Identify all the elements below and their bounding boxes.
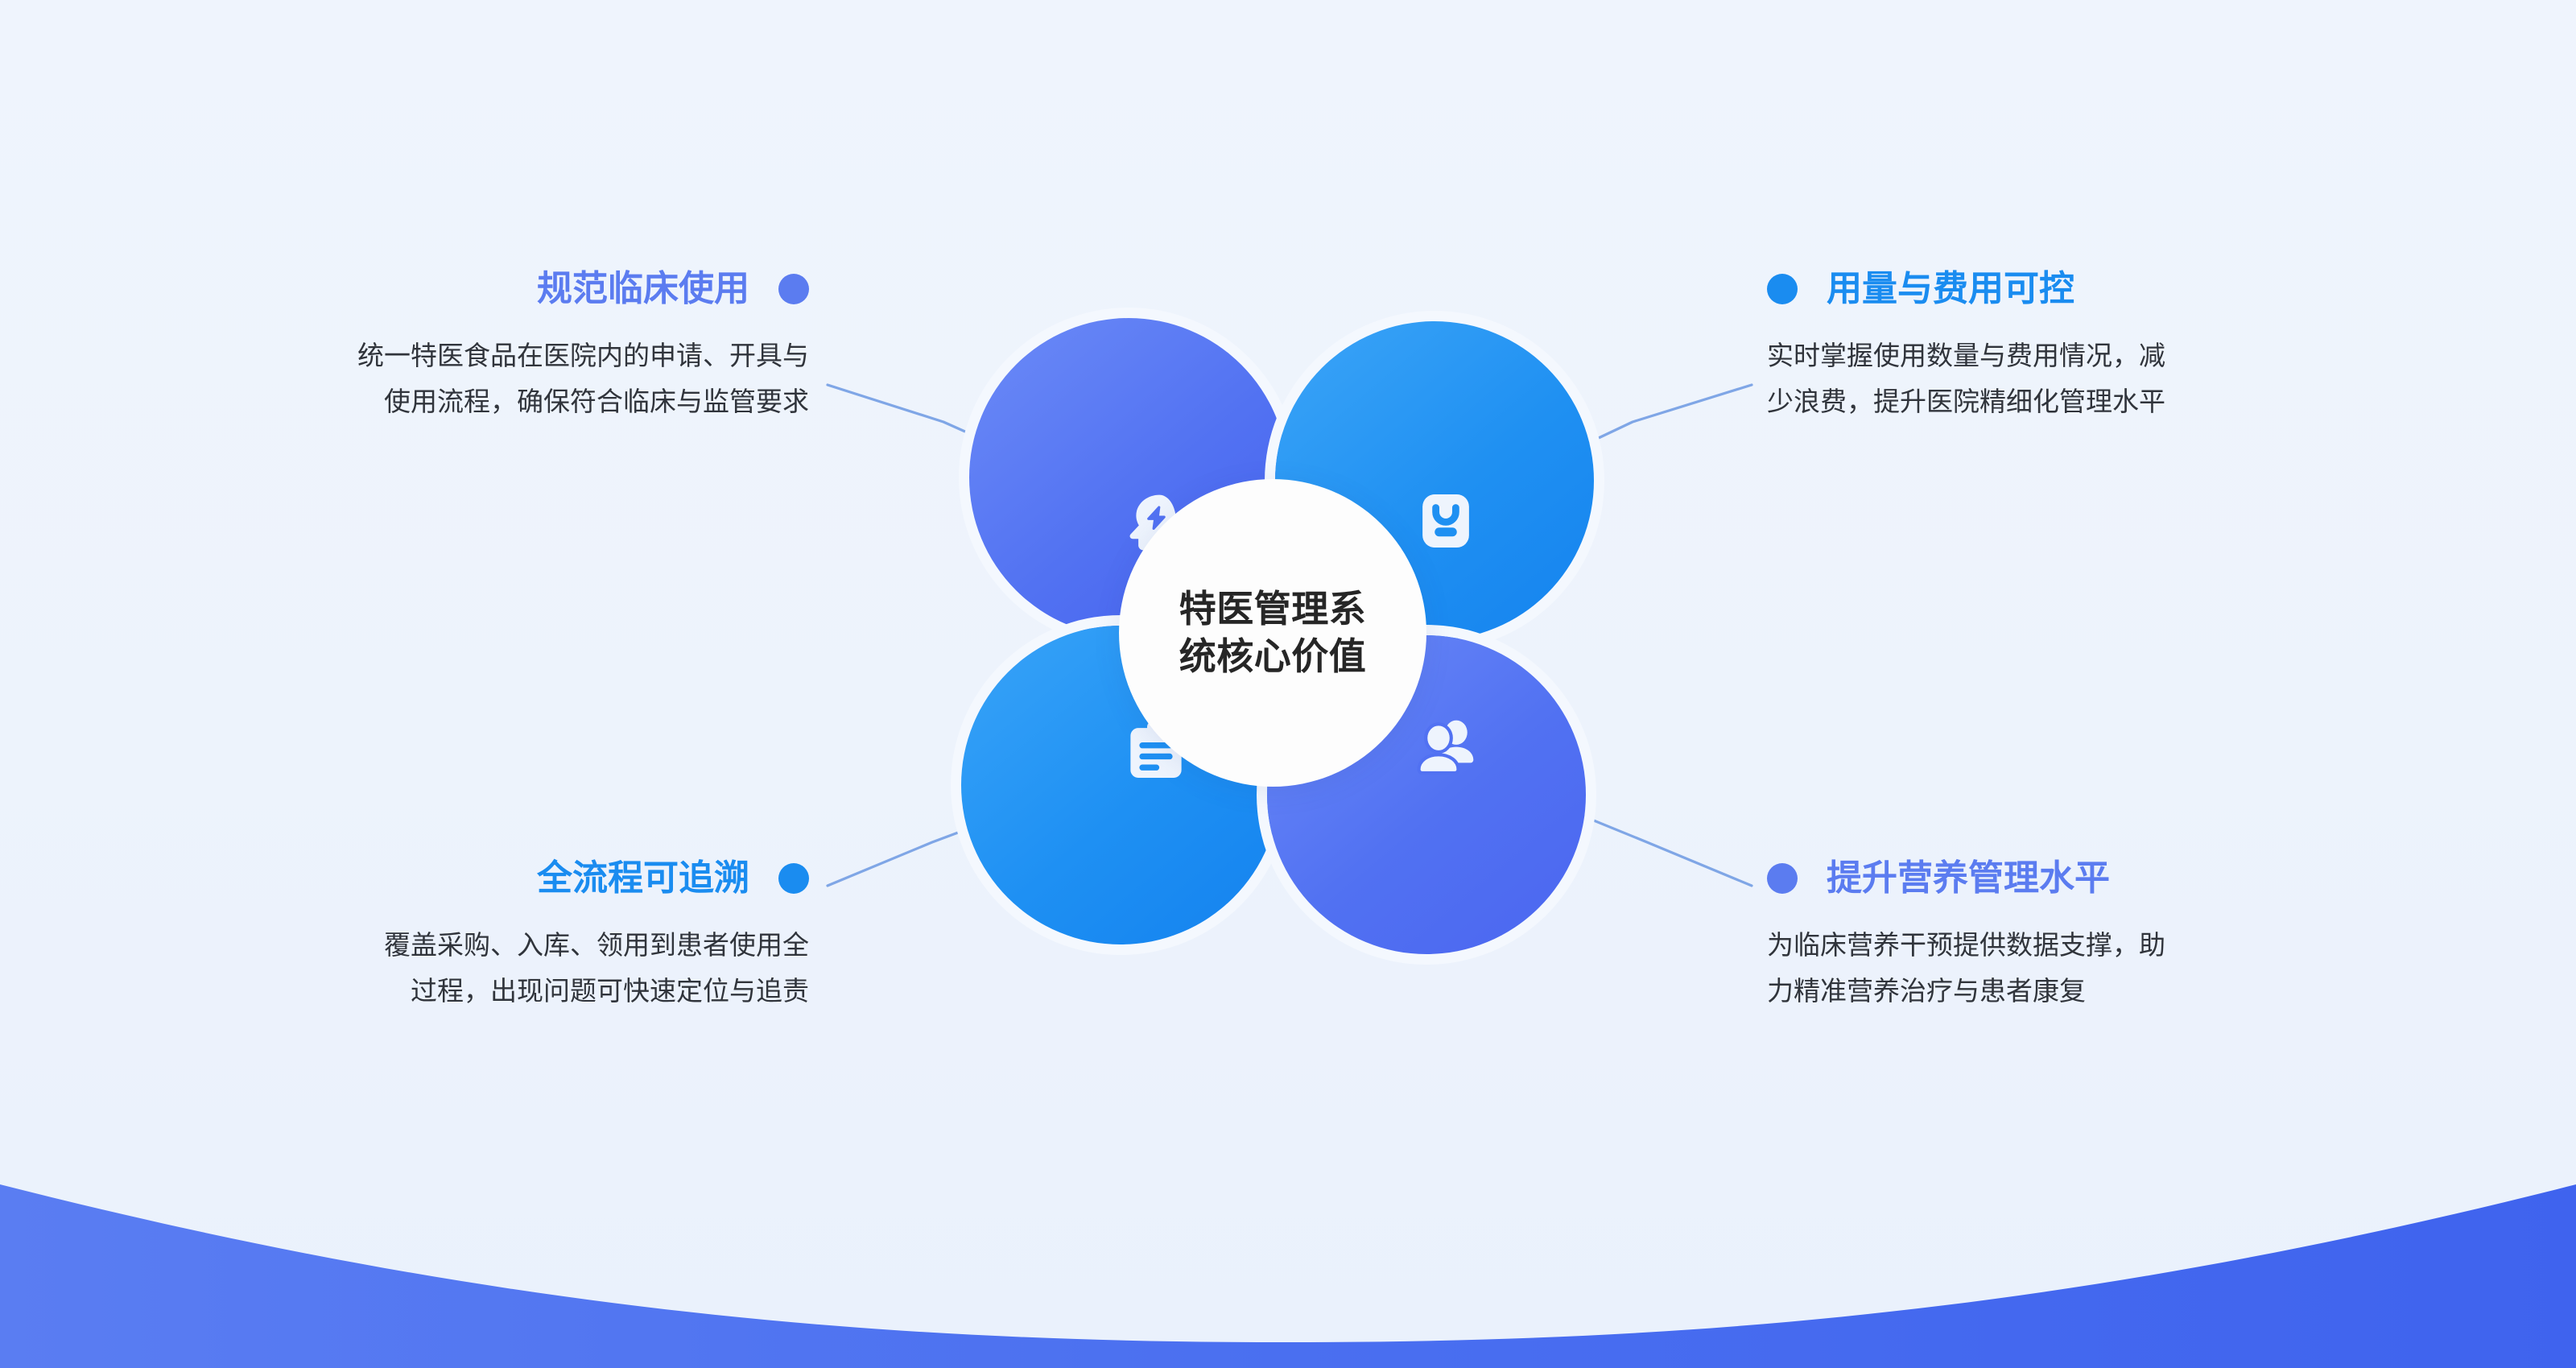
panel-usage-and-cost-control: 用量与费用可控 实时掌握使用数量与费用情况，减 少浪费，提升医院精细化管理水平 bbox=[1767, 266, 2443, 425]
panel-title: 提升营养管理水平 bbox=[1827, 861, 2110, 896]
panel-standardize-clinical-use: 规范临床使用 统一特医食品在医院内的申请、开具与 使用流程，确保符合临床与监管要… bbox=[133, 266, 809, 425]
panel-bullet-dot bbox=[778, 863, 809, 894]
panel-improve-nutrition-management: 提升营养管理水平 为临床营养干预提供数据支撑，助 力精准营养治疗与患者康复 bbox=[1767, 855, 2443, 1015]
panel-full-process-traceability: 全流程可追溯 覆盖采购、入库、领用到患者使用全 过程，出现问题可快速定位与追责 bbox=[133, 855, 809, 1015]
panel-bullet-dot bbox=[1767, 863, 1798, 894]
panel-description: 为临床营养干预提供数据支撑，助 力精准营养治疗与患者康复 bbox=[1767, 923, 2443, 1015]
shopping-bag-icon bbox=[1410, 486, 1481, 556]
value-cluster: 特医管理系 统核心价值 bbox=[934, 318, 1642, 962]
core-circle: 特医管理系 统核心价值 bbox=[1119, 479, 1426, 787]
panel-header: 规范临床使用 bbox=[133, 266, 809, 312]
bottom-wave-decoration bbox=[0, 1159, 2576, 1368]
infographic-stage: 特医管理系 统核心价值 规范临床使用 统一特医食品在医院内的申请、开具与 使用流… bbox=[0, 0, 2576, 1368]
panel-description: 实时掌握使用数量与费用情况，减 少浪费，提升医院精细化管理水平 bbox=[1767, 333, 2443, 425]
panel-header: 全流程可追溯 bbox=[133, 855, 809, 902]
panel-title: 全流程可追溯 bbox=[537, 861, 749, 896]
panel-description: 统一特医食品在医院内的申请、开具与 使用流程，确保符合临床与监管要求 bbox=[133, 333, 809, 425]
panel-bullet-dot bbox=[1767, 274, 1798, 304]
panel-description: 覆盖采购、入库、领用到患者使用全 过程，出现问题可快速定位与追责 bbox=[133, 923, 809, 1015]
panel-header: 提升营养管理水平 bbox=[1767, 855, 2443, 902]
core-title: 特医管理系 统核心价值 bbox=[1179, 585, 1367, 680]
panel-header: 用量与费用可控 bbox=[1767, 266, 2443, 312]
panel-bullet-dot bbox=[778, 274, 809, 304]
users-icon bbox=[1412, 713, 1483, 783]
panel-title: 规范临床使用 bbox=[537, 271, 749, 307]
panel-title: 用量与费用可控 bbox=[1827, 271, 2074, 307]
